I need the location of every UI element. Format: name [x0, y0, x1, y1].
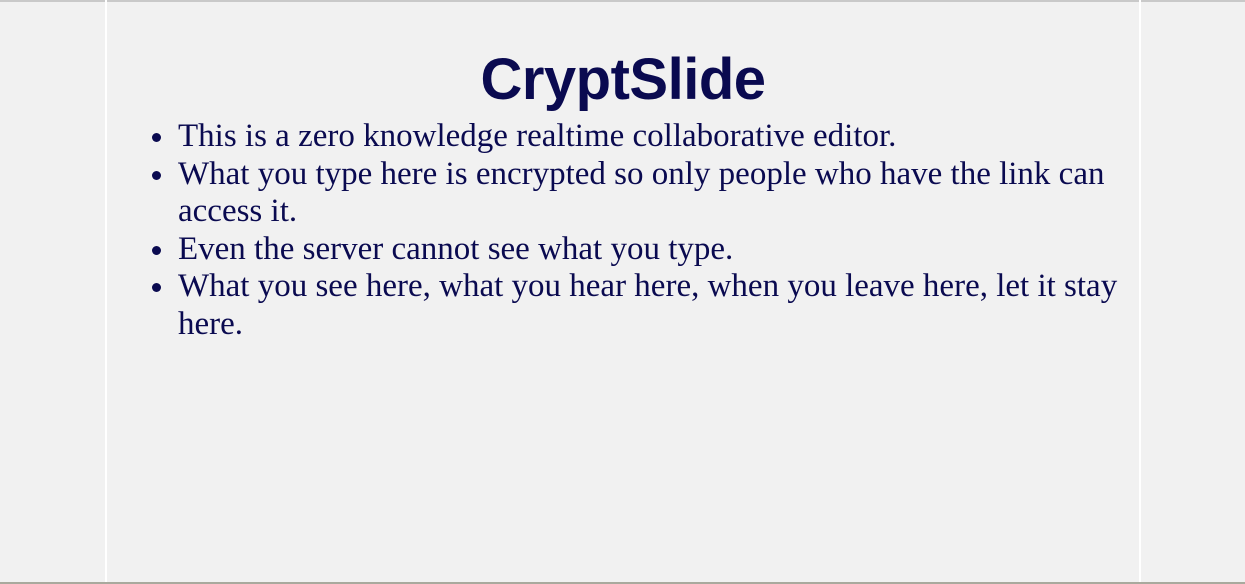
slide-canvas[interactable]: CryptSlide This is a zero knowledge real…	[107, 2, 1139, 582]
bullet-point-icon	[152, 246, 161, 255]
list-item[interactable]: What you see here, what you hear here, w…	[145, 268, 1129, 343]
right-gutter-divider	[1139, 0, 1141, 584]
slide-title[interactable]: CryptSlide	[107, 46, 1139, 114]
slide-viewer: CryptSlide This is a zero knowledge real…	[0, 0, 1245, 584]
list-item-label: What you see here, what you hear here, w…	[178, 268, 1129, 343]
bullet-point-icon	[152, 133, 161, 142]
list-item[interactable]: Even the server cannot see what you type…	[145, 231, 1129, 269]
list-item-label: Even the server cannot see what you type…	[178, 231, 1129, 269]
slide-bullet-list[interactable]: This is a zero knowledge realtime collab…	[145, 118, 1129, 343]
list-item-label: What you type here is encrypted so only …	[178, 156, 1129, 231]
list-item-label: This is a zero knowledge realtime collab…	[178, 118, 1129, 156]
bullet-point-icon	[152, 171, 161, 180]
list-item[interactable]: What you type here is encrypted so only …	[145, 156, 1129, 231]
bullet-point-icon	[152, 283, 161, 292]
list-item[interactable]: This is a zero knowledge realtime collab…	[145, 118, 1129, 156]
